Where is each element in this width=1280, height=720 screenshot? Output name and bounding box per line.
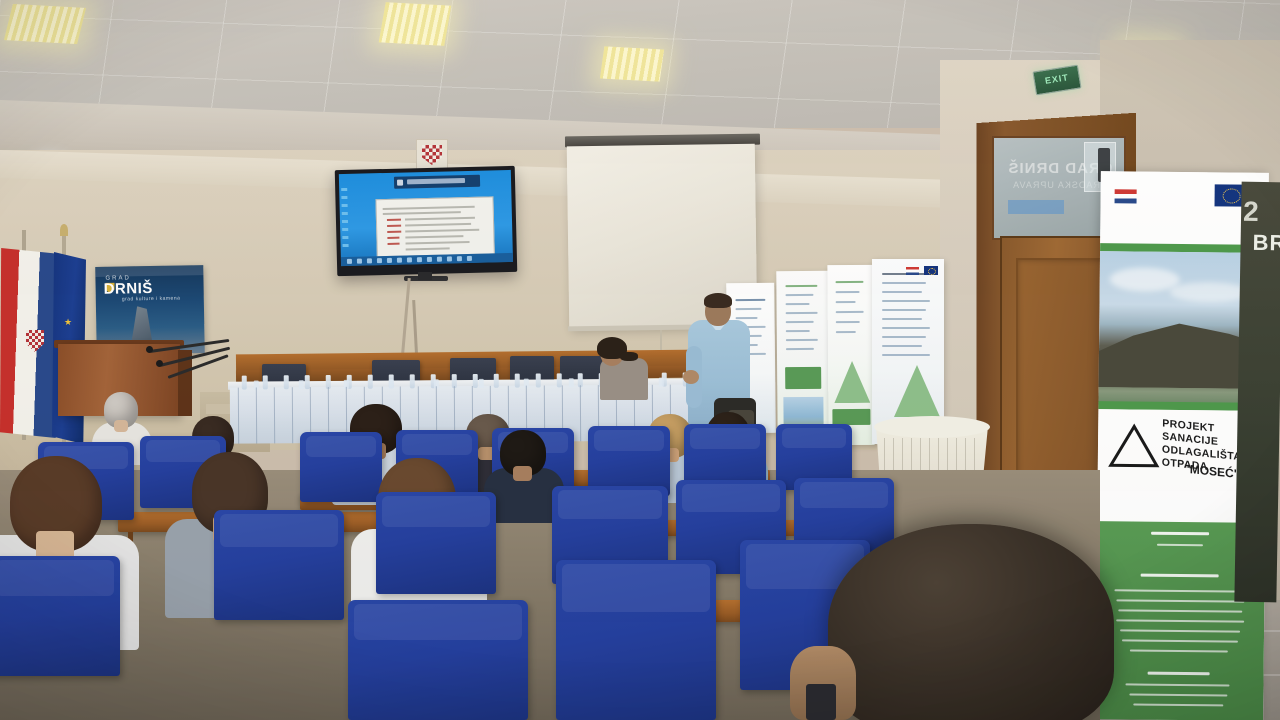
chair-highlight — [562, 564, 710, 612]
chair-highlight — [682, 484, 780, 512]
chair-highlight — [594, 430, 664, 451]
chair-highlight — [558, 490, 662, 519]
chair-highlight — [220, 514, 338, 547]
attendee-neck — [513, 466, 532, 481]
chair-highlight — [354, 604, 522, 640]
audience-chair[interactable] — [214, 510, 344, 620]
foreground-attendee-head — [828, 524, 1114, 720]
chair-highlight — [382, 496, 490, 527]
audience-chair[interactable] — [556, 560, 716, 720]
chair-highlight — [0, 560, 114, 596]
chair-highlight — [306, 436, 376, 457]
audience-chair[interactable] — [0, 556, 120, 676]
foreground-attendee-phone — [806, 684, 836, 720]
chair-highlight — [690, 428, 760, 449]
chair-highlight — [402, 434, 472, 455]
chair-highlight — [800, 482, 888, 508]
audience-chair[interactable] — [300, 432, 382, 502]
conference-room-photo: EXIT GRAD DRNIŠ grad kulture i kamena — [0, 0, 1280, 720]
audience-chair[interactable] — [376, 492, 496, 594]
chair-highlight — [782, 428, 846, 448]
audience-chair[interactable] — [348, 600, 528, 720]
attendee-neck — [114, 420, 128, 432]
